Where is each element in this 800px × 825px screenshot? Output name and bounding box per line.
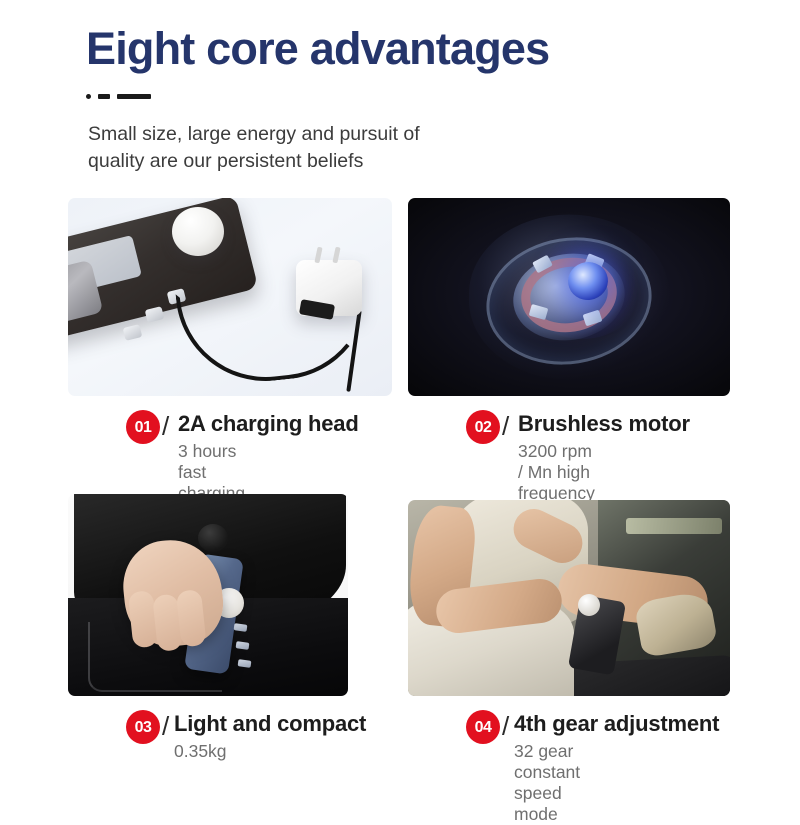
feature-subtitle-04: 32 gear constant speed mode	[514, 741, 580, 825]
gun-button	[145, 306, 165, 323]
badge-number: 03	[135, 720, 152, 735]
feature-title-03: Light and compact	[174, 711, 366, 737]
page-title: Eight core advantages	[86, 23, 549, 75]
caption-slash: /	[162, 411, 169, 442]
divider-dot-icon	[86, 94, 91, 99]
feature-badge-02: 02	[466, 410, 500, 444]
gun-power-button	[123, 324, 143, 341]
divider-bar-icon	[117, 94, 151, 99]
feature-badge-04: 04	[466, 710, 500, 744]
badge-number: 01	[135, 420, 152, 435]
feature-photo-brushless-motor	[408, 198, 730, 396]
device-attachment-head	[198, 524, 228, 552]
feature-photo-charging-head	[68, 198, 392, 396]
decorative-divider	[86, 94, 151, 99]
feature-title-02: Brushless motor	[518, 411, 690, 437]
feature-badge-01: 01	[126, 410, 160, 444]
header-subtitle: Small size, large energy and pursuit of …	[88, 121, 420, 175]
badge-number: 04	[475, 720, 492, 735]
massage-gun-head	[578, 594, 600, 616]
feature-subtitle-03: 0.35kg	[174, 741, 227, 762]
feature-photo-gear-adjustment	[408, 500, 730, 696]
gym-rack-bar	[626, 518, 722, 534]
divider-dash-icon	[98, 94, 110, 99]
badge-number: 02	[475, 420, 492, 435]
caption-slash: /	[162, 711, 169, 742]
feature-photo-light-compact	[68, 494, 348, 696]
feature-title-01: 2A charging head	[178, 411, 359, 437]
feature-badge-03: 03	[126, 710, 160, 744]
feature-title-04: 4th gear adjustment	[514, 711, 719, 737]
caption-slash: /	[502, 411, 509, 442]
gun-attachment-head	[172, 207, 224, 256]
caption-slash: /	[502, 711, 509, 742]
